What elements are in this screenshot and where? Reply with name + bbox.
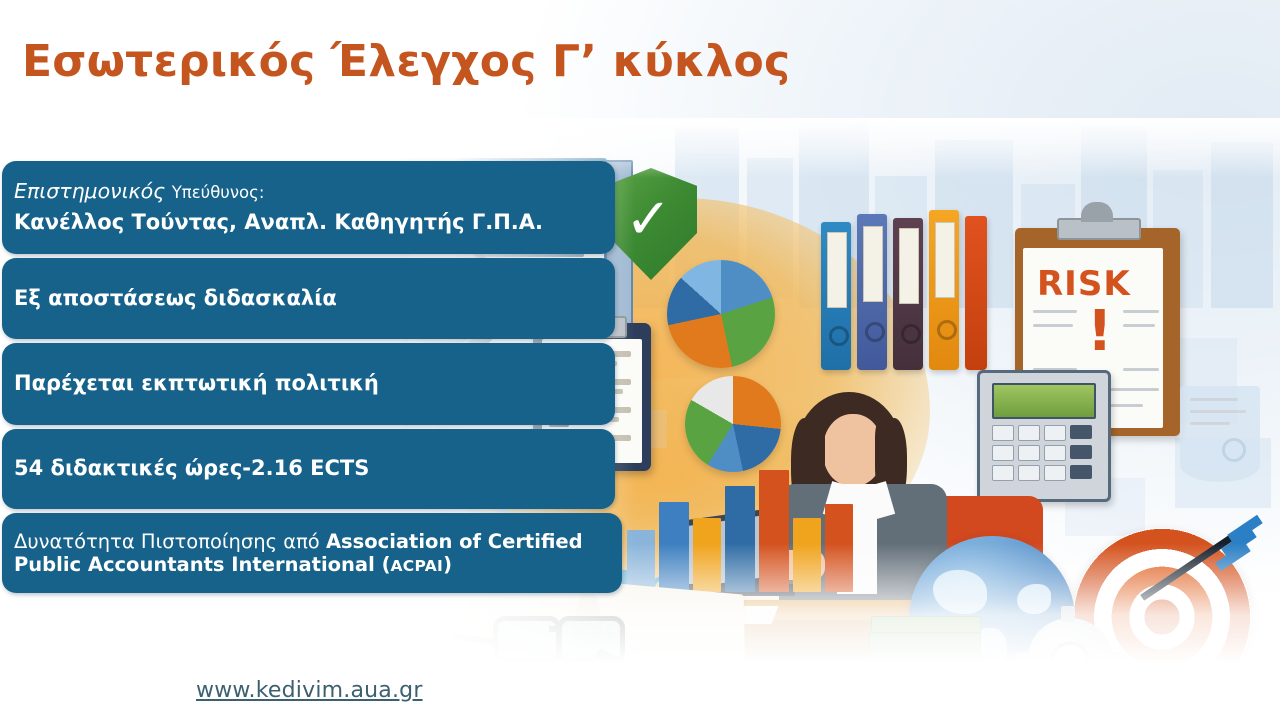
hours-ects-label: 54 διδακτικές ώρες-2.16 ECTS [14,456,601,482]
slide-canvas: Εσωτερικός Έλεγχος Γ’ κύκλος AUDIT REPOR… [0,0,1280,720]
info-box-list: Επιστημονικός Υπεύθυνος: Κανέλλος Τούντα… [0,0,640,720]
info-box-certification[interactable]: Δυνατότητα Πιστοποίησης από Association … [2,513,622,593]
certification-text: Δυνατότητα Πιστοποίησης από Association … [14,530,608,577]
supervisor-name: Κανέλλος Τούντας, Αναπλ. Καθηγητής Γ.Π.Α… [14,210,601,236]
supervisor-heading: Επιστημονικός Υπεύθυνος: [14,179,601,204]
info-box-scientific-supervisor[interactable]: Επιστημονικός Υπεύθυνος: Κανέλλος Τούντα… [2,161,615,254]
pie-chart-icon [667,260,775,368]
discount-policy-label: Παρέχεται εκπτωτική πολιτική [14,371,601,397]
kedivim-website-link[interactable]: www.kedivim.aua.gr [196,678,423,703]
certificate-icon [1180,386,1260,482]
info-box-discount-policy[interactable]: Παρέχεται εκπτωτική πολιτική [2,343,615,425]
risk-exclamation: ! [1087,304,1113,360]
supervisor-heading-lead: Επιστημονικός [14,179,172,203]
calculator-icon [977,370,1111,502]
distance-learning-label: Εξ αποστάσεως διδασκαλία [14,286,601,312]
risk-label: RISK [1037,264,1131,304]
info-box-hours-ects[interactable]: 54 διδακτικές ώρες-2.16 ECTS [2,429,615,509]
supervisor-heading-rest: Υπεύθυνος: [172,183,265,202]
certification-lead: Δυνατότητα Πιστοποίησης από [14,530,326,553]
certification-acronym: ACPAI [390,557,443,575]
certification-paren-close: ) [443,553,452,576]
info-box-distance-learning[interactable]: Εξ αποστάσεως διδασκαλία [2,258,615,339]
